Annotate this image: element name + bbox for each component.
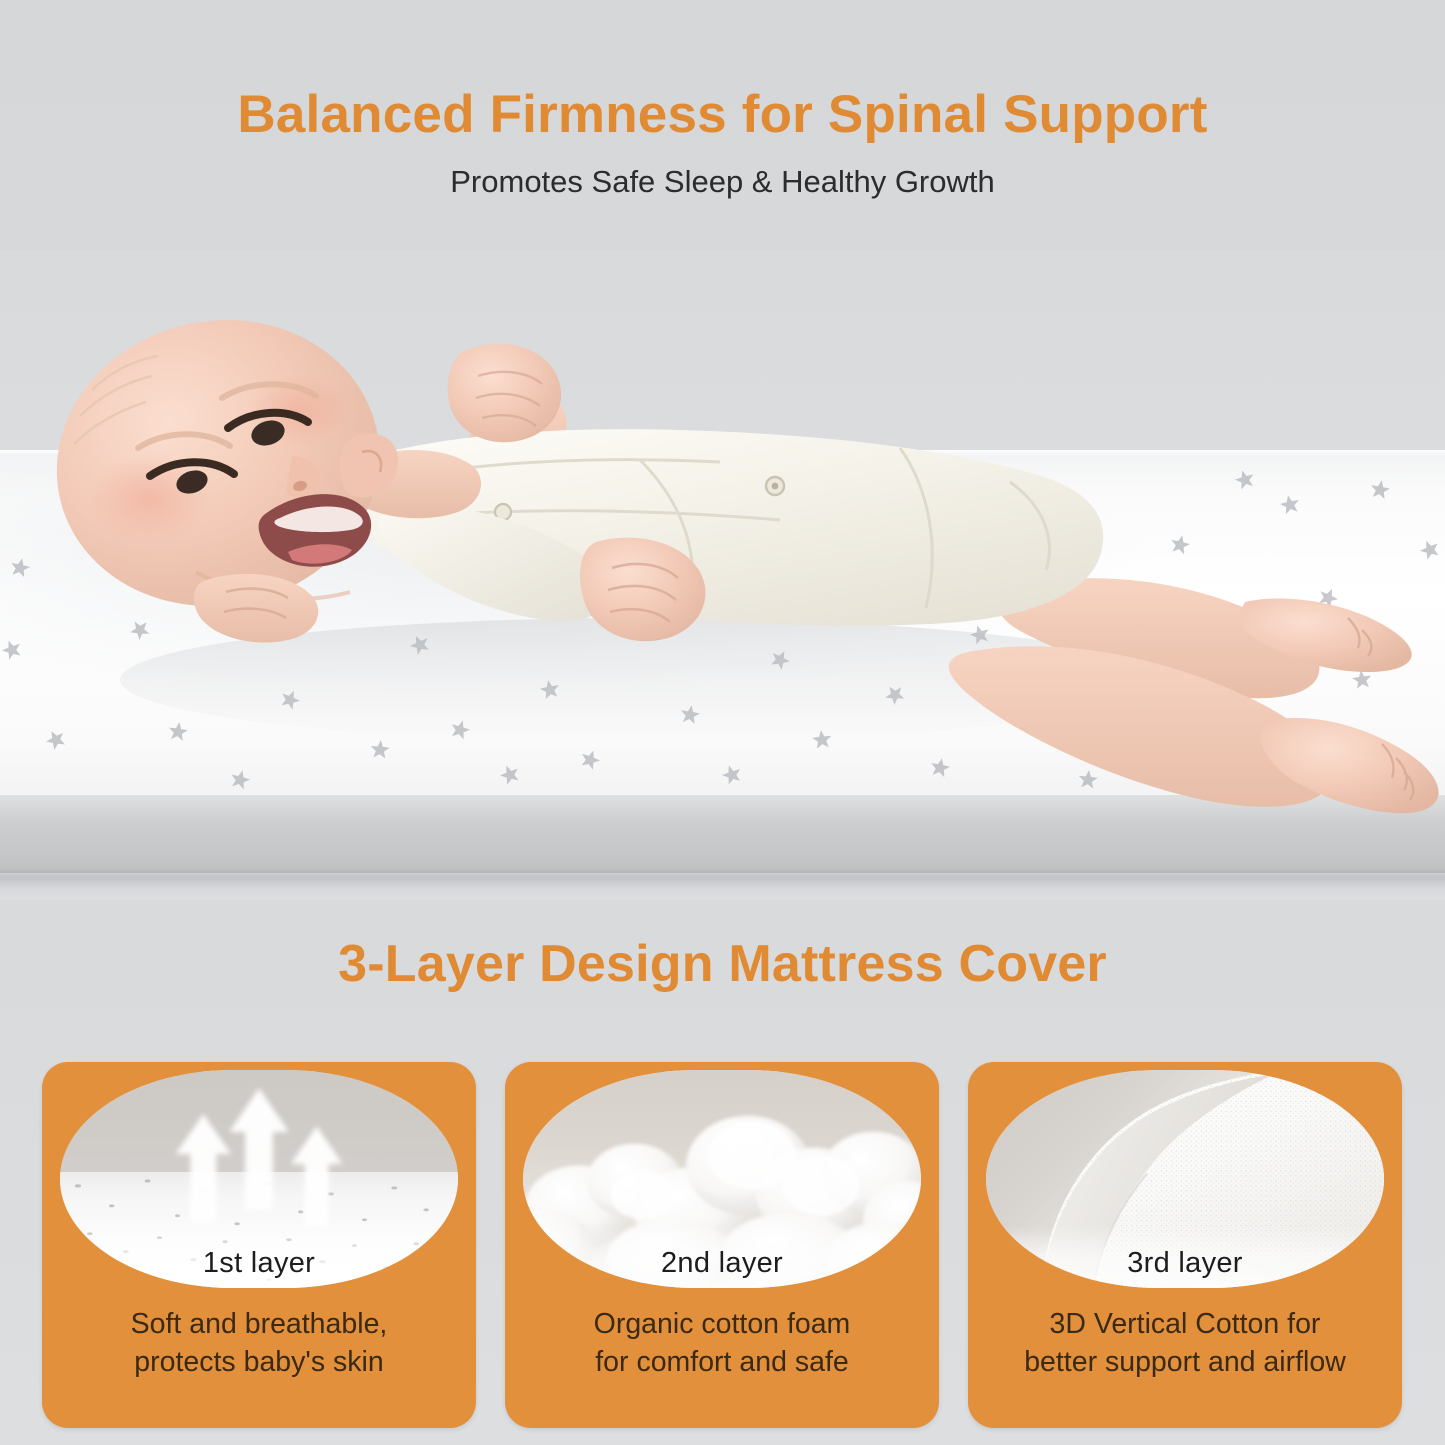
hero-photo [0, 250, 1445, 900]
layer-card-2-photo: 2nd layer [523, 1070, 921, 1288]
layer-card-2[interactable]: 2nd layer Organic cotton foam for comfor… [505, 1062, 939, 1428]
layers-headline: 3-Layer Design Mattress Cover [0, 938, 1445, 990]
layer-card-3-photo: 3rd layer [986, 1070, 1384, 1288]
layer-caption-2: Organic cotton foam for comfort and safe [519, 1306, 925, 1381]
layer-caption-2-line1: Organic cotton foam [519, 1306, 925, 1344]
layer-caption-3-line1: 3D Vertical Cotton for [982, 1306, 1388, 1344]
layer-card-3[interactable]: 3rd layer 3D Vertical Cotton for better … [968, 1062, 1402, 1428]
layer-caption-1: Soft and breathable, protects baby's ski… [56, 1306, 462, 1381]
layer-label-2: 2nd layer [523, 1249, 921, 1278]
layer-caption-1-line2: protects baby's skin [56, 1344, 462, 1382]
product-infographic: Balanced Firmness for Spinal Support Pro… [0, 0, 1445, 1445]
layer-card-1-photo: 1st layer [60, 1070, 458, 1288]
layer-caption-1-line1: Soft and breathable, [56, 1306, 462, 1344]
layer-cards-row: 1st layer Soft and breathable, protects … [0, 1062, 1445, 1432]
hero-headline: Balanced Firmness for Spinal Support [0, 88, 1445, 141]
layer-label-3: 3rd layer [986, 1249, 1384, 1278]
layer-label-1: 1st layer [60, 1249, 458, 1278]
hero-subheadline: Promotes Safe Sleep & Healthy Growth [0, 166, 1445, 197]
layer-card-1[interactable]: 1st layer Soft and breathable, protects … [42, 1062, 476, 1428]
layer-caption-3-line2: better support and airflow [982, 1344, 1388, 1382]
layer-caption-2-line2: for comfort and safe [519, 1344, 925, 1382]
layer-caption-3: 3D Vertical Cotton for better support an… [982, 1306, 1388, 1381]
baby-figure [0, 250, 1445, 900]
